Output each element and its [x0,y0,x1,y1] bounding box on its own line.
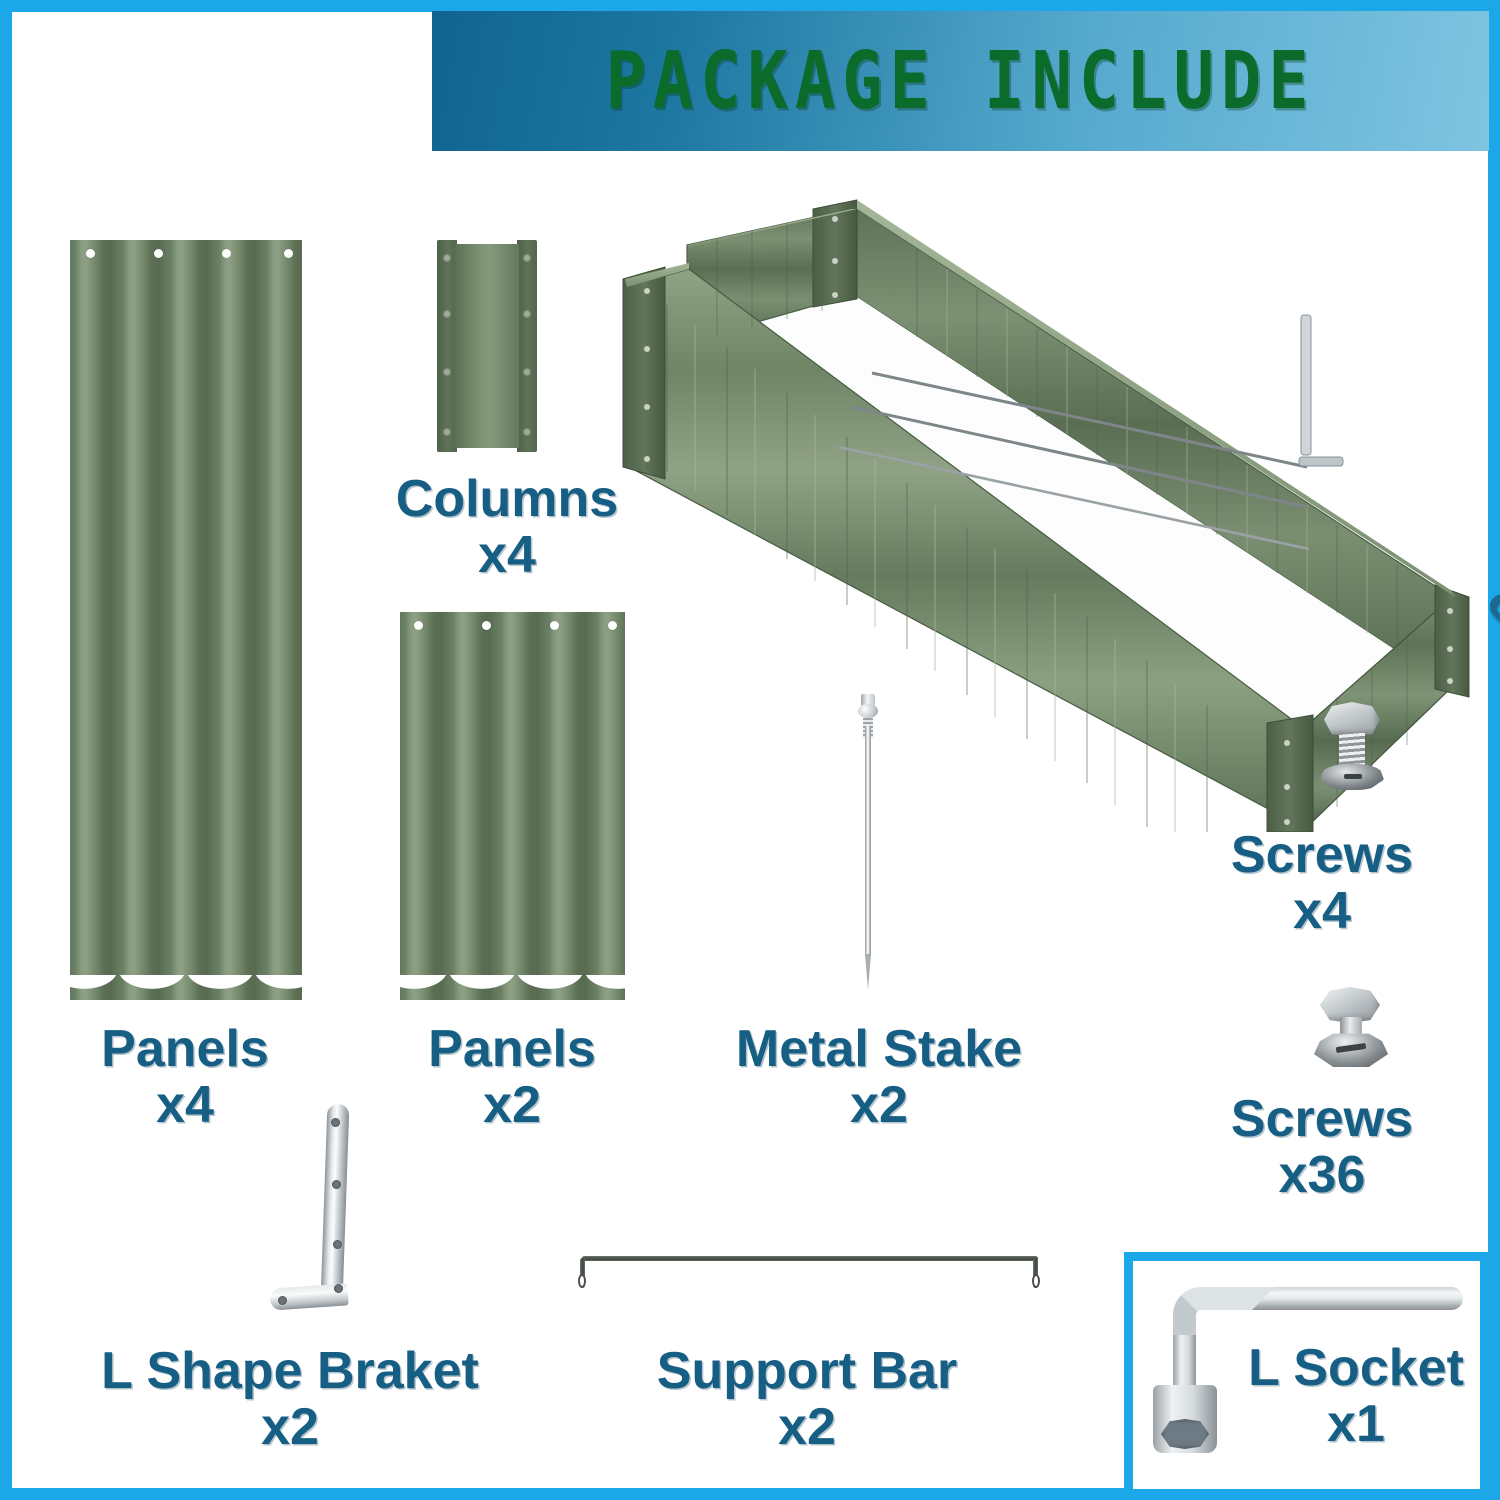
part-name: Support Bar [657,1342,957,1400]
part-name: Panels [428,1020,596,1078]
stake-tip [865,954,871,990]
panel-screw-hole [222,249,231,258]
bracket-hole [331,1118,340,1127]
part-qty: x36 [1172,1148,1472,1204]
part-qty: x2 [362,1078,662,1134]
column-flange-right [517,240,537,452]
header-banner: PACKAGE INCLUDE [432,11,1489,151]
bolt-thread [1339,732,1365,768]
panel-wavy-edge [398,975,627,1001]
support-bar-eye [1032,1274,1040,1288]
label-l-bracket: L Shape Braket x2 [40,1344,540,1455]
part-qty: x2 [684,1078,1074,1134]
panel-ribs [400,612,625,1000]
label-support-bar: Support Bar x2 [572,1344,1042,1455]
bracket-hole [334,1284,343,1293]
part-name: Columns [396,470,618,528]
column-screw-hole [523,368,531,376]
part-name: Metal Stake [736,1020,1022,1078]
hex-bolt-icon [1314,702,1390,794]
part-name: L Socket [1248,1339,1464,1397]
support-bar-shaft [582,1256,1038,1261]
column-web [455,244,519,448]
support-bar-icon [574,1250,1044,1290]
u-channel-column-icon [437,240,537,452]
column-screw-hole [523,310,531,318]
part-name: L Shape Braket [101,1342,479,1400]
part-qty: x2 [572,1400,1042,1456]
column-screw-hole [443,254,451,262]
stake-shaft [865,726,871,956]
panel-screw-hole [284,249,293,258]
bolt-slot [1344,774,1362,779]
bracket-hole [332,1180,341,1189]
part-name: Screws [1231,826,1413,884]
bracket-hole [333,1240,342,1249]
column-screw-hole [443,428,451,436]
column-flange-left [437,240,457,452]
panel-screw-hole [550,621,559,630]
column-screw-hole [443,310,451,318]
l-bracket-icon [264,1104,374,1319]
panel-wavy-edge [68,975,304,1001]
l-socket-callout-box: L Socket x1 [1124,1252,1489,1498]
bolt-hex-head [1324,702,1380,736]
corrugated-panel-icon [400,612,625,1000]
column-screw-hole [523,254,531,262]
part-qty: x1 [1231,1397,1481,1453]
panel-screw-hole [482,621,491,630]
panel-screw-hole [414,621,423,630]
part-name: Panels [101,1020,269,1078]
column-screw-hole [523,428,531,436]
corrugated-panel-icon [70,240,302,1000]
column-screw-hole [443,368,451,376]
panel-screw-hole [86,249,95,258]
label-l-socket: L Socket x1 [1231,1341,1481,1452]
support-bar-eye [578,1274,586,1288]
label-panels-small: Panels x2 [362,1022,662,1133]
panel-ribs [70,240,302,1000]
label-metal-stake: Metal Stake x2 [684,1022,1074,1133]
part-name: Screws [1231,1090,1413,1148]
part-qty: x4 [1172,884,1472,940]
metal-stake-icon [857,692,879,992]
bracket-vertical-arm [321,1104,350,1301]
page-title: PACKAGE INCLUDE [605,35,1315,127]
stake-collar [858,704,878,718]
package-include-infographic: PACKAGE INCLUDE Panels x4 Columns x4 [0,0,1500,1500]
label-screws-36: Screws x36 [1172,1092,1472,1203]
hex-nut-bolt-icon [1312,987,1390,1075]
panel-screw-hole [154,249,163,258]
bracket-hole [278,1296,287,1305]
part-qty: x2 [40,1400,540,1456]
label-screws-4: Screws x4 [1172,828,1472,939]
